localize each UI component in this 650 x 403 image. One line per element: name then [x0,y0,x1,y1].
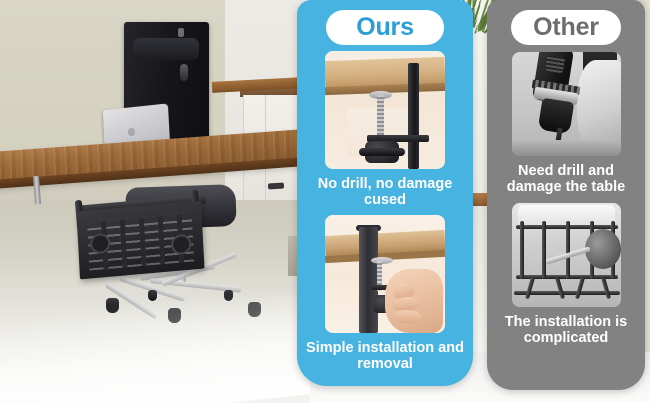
wire-rack-install-photo [512,203,621,307]
other-caption-2: The installation is complicated [487,314,645,346]
drill-vent [544,55,564,74]
drilled-surface [512,140,621,156]
mount-vertical-post [359,227,378,333]
other-badge: Other [511,10,621,45]
office-chair-headrest [133,38,199,60]
hand-installing-clamp-photo [325,215,445,333]
rack-wire [520,221,524,279]
rack-wire [542,221,546,279]
clamp-washer [371,257,393,264]
ours-cell-2: Simple installation and removal [297,209,473,372]
office-chair-top-slot [178,28,184,37]
ours-caption-1: No drill, no damage cused [297,176,473,208]
power-drill-photo [512,52,621,156]
rack-wire [566,221,570,279]
under-desk-cable-tray [76,201,204,280]
clamp-tightening-knob [365,141,399,163]
ours-caption-2: Simple installation and removal [297,340,473,372]
apple-logo-icon [128,128,135,136]
other-caption-1: Need drill and damage the table [487,163,645,195]
chair-caster [148,290,157,301]
other-cell-1: Need drill and damage the table [487,45,645,195]
hand-finger [393,309,421,323]
other-comparison-panel: Other Need drill and damage the table [487,0,645,390]
clamp-under-desk-photo [325,51,445,169]
desk-small-object [268,182,284,189]
ours-badge: Ours [326,10,444,45]
ours-comparison-panel: Ours No drill, no damage cused [297,0,473,386]
mount-vertical-post [408,63,419,169]
drill-chuck [537,98,574,135]
other-cell-2: The installation is complicated [487,196,645,346]
ours-cell-1: No drill, no damage cused [297,45,473,208]
office-chair-adjust-knob [180,64,188,81]
comparison-image-stage: Ours No drill, no damage cused [0,0,650,403]
office-scene-photo [0,0,310,403]
